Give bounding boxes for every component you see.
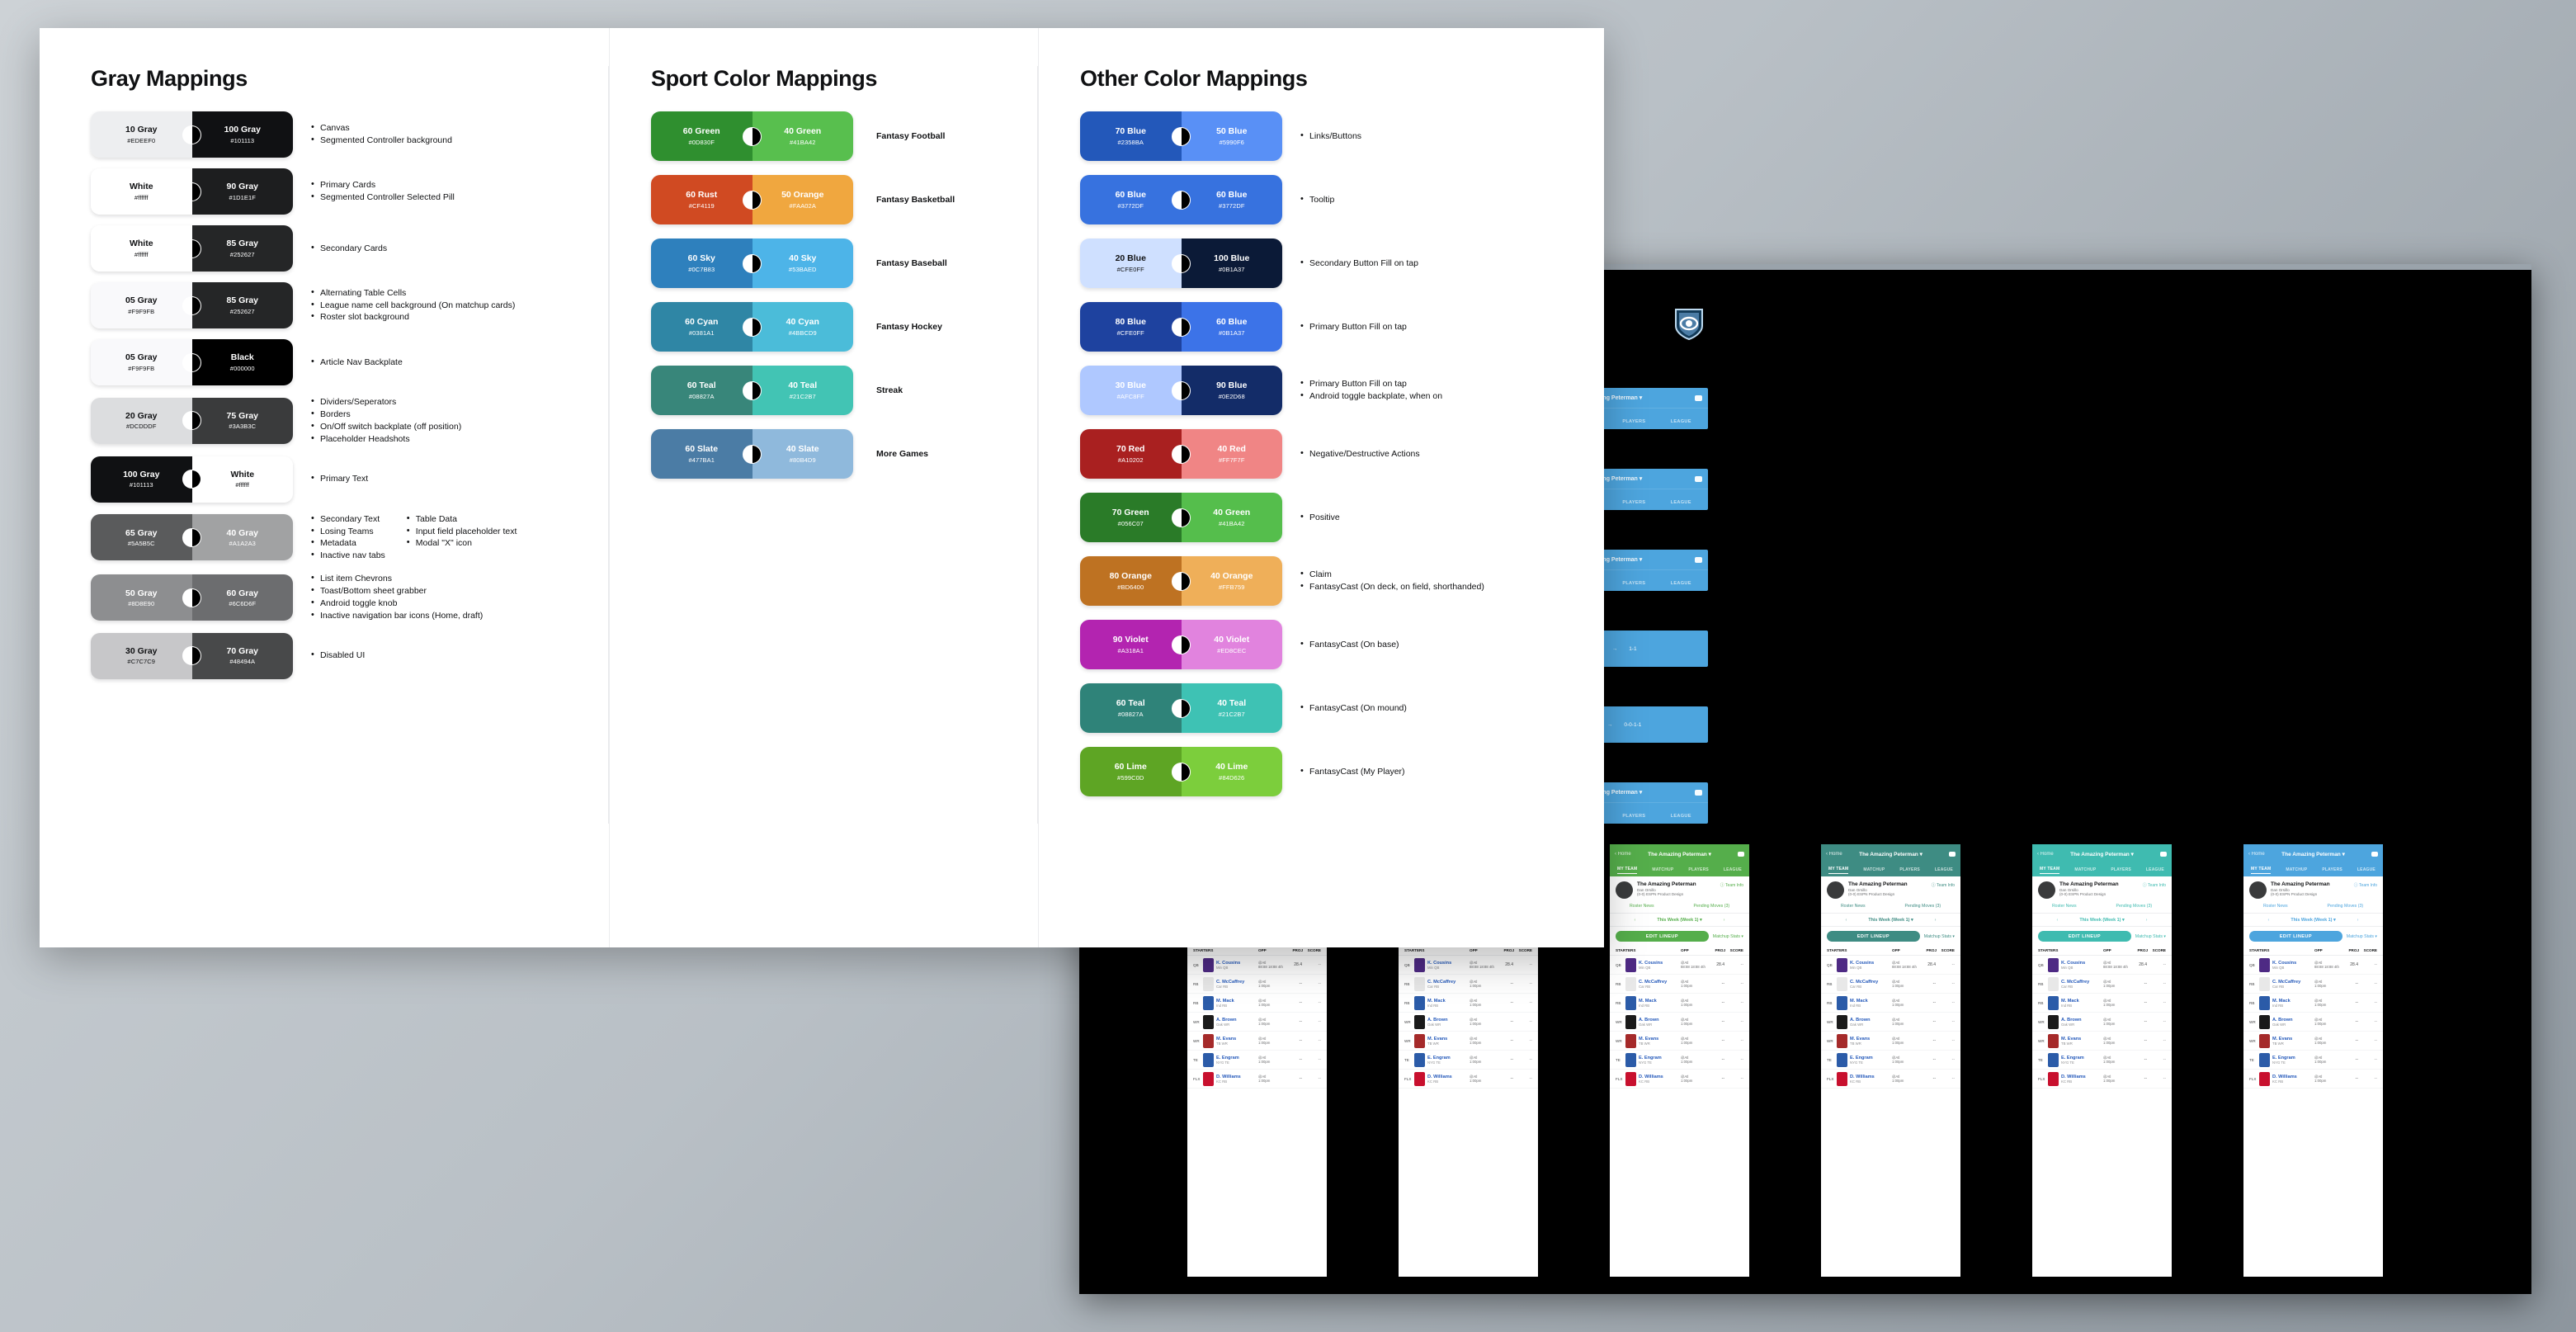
tab-my-team[interactable]: MY TEAM <box>1617 867 1637 874</box>
team-name: The Amazing Peterman <box>2271 881 2330 887</box>
chevron-right-icon[interactable]: › <box>2146 918 2148 923</box>
swatch-name: 40 Sky <box>789 253 816 263</box>
tab-players[interactable]: PLAYERS <box>2111 867 2131 872</box>
quick-link[interactable]: Roster News <box>1630 904 1654 909</box>
knob-right-half <box>192 354 201 371</box>
team-record: (0-0) ESPN Product Design <box>1637 892 1696 896</box>
swatch-hex: #5A5B5C <box>128 540 155 547</box>
quick-link[interactable]: Roster News <box>2263 904 2288 909</box>
chevron-right-icon[interactable]: › <box>1935 918 1937 923</box>
player-identity: K. CousinsMin QB <box>1850 961 1890 970</box>
position-label: WR <box>2249 1039 2257 1043</box>
player-identity: A. BrownOak WR <box>2272 1018 2312 1027</box>
table-row[interactable]: WRM. EvansTB WR@Atl1:00pm---- <box>2243 1032 2383 1051</box>
player-identity: C. McCaffreyCar RB <box>1639 980 1678 989</box>
knob-right-half <box>1182 573 1191 590</box>
opponent-cell: @Atl1:00pm <box>1892 980 1917 988</box>
player-team-pos: Car RB <box>1216 985 1256 989</box>
tab-league[interactable]: LEAGUE <box>1671 500 1691 507</box>
swatch-hex: #F9F9FB <box>128 365 154 372</box>
tab-players[interactable]: PLAYERS <box>1622 814 1645 820</box>
swatch-hex: #3772DF <box>1219 202 1245 210</box>
opponent-cell: @Atl88:88 18:88 4th <box>1470 961 1494 969</box>
contrast-knob-icon <box>1172 445 1191 464</box>
avatar <box>1616 881 1633 899</box>
tab-league[interactable]: LEAGUE <box>1724 867 1742 872</box>
note-list: Positive <box>1300 512 1340 524</box>
opponent-cell: @Atl1:00pm <box>1258 1075 1283 1083</box>
swatch-hex: #48494A <box>229 658 255 665</box>
table-row[interactable]: QBK. CousinsMin QB@Atl88:88 18:88 4th28.… <box>1610 956 1749 975</box>
knob-right-half <box>1182 636 1191 654</box>
table-row[interactable]: FLXD. WilliamsKC RB@Atl1:00pm---- <box>2243 1070 2383 1089</box>
game-time: 88:88 18:88 4th <box>2314 965 2339 969</box>
game-time: 1:00pm <box>1892 1041 1917 1045</box>
swatch-hex: #EDEEF0 <box>127 137 155 144</box>
opponent-cell: @Atl1:00pm <box>1892 1037 1917 1045</box>
knob-left-half <box>743 191 753 209</box>
note-list: Dividers/SeperatorsBordersOn/Off switch … <box>311 396 461 446</box>
tab-matchup[interactable]: MATCHUP <box>2286 867 2307 872</box>
table-row[interactable]: WRM. EvansTB WR@Atl1:00pm---- <box>1821 1032 1960 1051</box>
quick-link[interactable]: Roster News <box>2052 904 2077 909</box>
swatch-hex: #ED8CEC <box>1217 647 1246 654</box>
player-team-pos: NYG TE <box>1216 1060 1256 1065</box>
table-row[interactable]: FLXD. WilliamsKC RB@Atl1:00pm---- <box>2032 1070 2172 1089</box>
opponent-cell: @Atl1:00pm <box>2314 1037 2339 1045</box>
swatch-name: 75 Gray <box>226 411 258 421</box>
color-swatch-pair: 100 Gray#101113White#ffffff <box>91 456 293 503</box>
tab-matchup[interactable]: MATCHUP <box>1652 867 1673 872</box>
column-header: PROJ <box>2131 948 2148 952</box>
table-row[interactable]: RBM. MackInd RB@Atl1:00pm---- <box>2032 994 2172 1013</box>
swatch-name: 20 Blue <box>1116 253 1146 263</box>
player-identity: A. BrownOak WR <box>2061 1018 2101 1027</box>
team-info-link[interactable]: ⓘ Team Info <box>1932 882 1955 888</box>
table-row[interactable]: QBK. CousinsMin QB@Atl88:88 18:88 4th28.… <box>1399 956 1538 975</box>
score-value: -- <box>1516 1000 1532 1005</box>
chat-icon[interactable] <box>2160 852 2167 857</box>
table-row[interactable]: RBM. MackInd RB@Atl1:00pm---- <box>1399 994 1538 1013</box>
phone-nav-bar: ‹ HomeThe Amazing Peterman ▾ <box>2032 844 2172 863</box>
swatch-half-right: 40 Slate#80B4D9 <box>753 429 854 479</box>
matchup-stats-link[interactable]: Matchup Stats ▾ <box>2135 934 2166 939</box>
score-value: -- <box>1727 1038 1743 1043</box>
table-row[interactable]: RBC. McCaffreyCar RB@Atl1:00pm---- <box>1187 975 1327 994</box>
chevron-right-icon[interactable]: › <box>1724 918 1725 923</box>
usage-label: Fantasy Basketball <box>853 195 955 205</box>
table-row[interactable]: WRA. BrownOak WR@Atl1:00pm---- <box>2243 1013 2383 1032</box>
game-time: 1:00pm <box>1892 1079 1917 1083</box>
more-games-logo <box>1644 286 1734 360</box>
tab-league[interactable]: LEAGUE <box>1671 419 1691 426</box>
player-headshot <box>1414 996 1425 1010</box>
note-item: Modal "X" icon <box>407 537 517 550</box>
table-row[interactable]: WRA. BrownOak WR@Atl1:00pm---- <box>2032 1013 2172 1032</box>
note-item: On/Off switch backplate (off position) <box>311 421 461 433</box>
table-row[interactable]: QBK. CousinsMin QB@Atl88:88 18:88 4th28.… <box>1821 956 1960 975</box>
position-label: RB <box>1193 1001 1201 1005</box>
tab-matchup[interactable]: MATCHUP <box>1863 867 1885 872</box>
note-item: Secondary Cards <box>311 243 387 255</box>
projection-value: -- <box>1919 1019 1936 1024</box>
tab-players[interactable]: PLAYERS <box>1622 581 1645 588</box>
chevron-left-icon[interactable]: ‹ <box>1846 918 1847 923</box>
phone-tab-bar: MY TEAMMATCHUPPLAYERSLEAGUE <box>2032 863 2172 876</box>
swatch-half-right: 100 Blue#0B1A37 <box>1182 239 1283 288</box>
swatch-hex: #8D8E90 <box>128 600 154 607</box>
edit-lineup-button[interactable]: EDIT LINEUP <box>2038 931 2131 942</box>
table-row[interactable]: TEE. EngramNYG TE@Atl1:00pm---- <box>1399 1051 1538 1070</box>
table-row[interactable]: WRM. EvansTB WR@Atl1:00pm---- <box>2032 1032 2172 1051</box>
quick-link[interactable]: Pending Moves (3) <box>2116 904 2153 909</box>
position-label: WR <box>2038 1020 2045 1024</box>
score-value: -- <box>1938 1038 1955 1043</box>
tab-players[interactable]: PLAYERS <box>2322 867 2342 872</box>
projection-value: -- <box>1497 1019 1513 1024</box>
table-row[interactable]: WRA. BrownOak WR@Atl1:00pm---- <box>1610 1013 1749 1032</box>
score-value: -- <box>1305 981 1321 986</box>
usage-notes: Positive <box>1282 512 1340 524</box>
swatch-half-right: 85 Gray#252627 <box>192 282 294 328</box>
swatch-row: 60 Green#0D830F40 Green#41BA42Fantasy Fo… <box>651 111 1038 161</box>
edit-lineup-bar: EDIT LINEUPMatchup Stats ▾ <box>2032 927 2172 946</box>
swatch-half-right: Black#000000 <box>192 339 294 385</box>
table-row[interactable]: WRM. EvansTB WR@Atl1:00pm---- <box>1399 1032 1538 1051</box>
note-item: Secondary Text <box>311 513 385 526</box>
swatch-half-left: 60 Green#0D830F <box>651 111 753 161</box>
note-list: Table DataInput field placeholder textMo… <box>407 513 517 563</box>
knob-left-half <box>743 128 753 145</box>
week-selector: ‹This Week (Week 1) ▾› <box>2243 913 2383 927</box>
game-time: 1:00pm <box>2103 1022 2128 1026</box>
table-row[interactable]: RBC. McCaffreyCar RB@Atl1:00pm---- <box>2243 975 2383 994</box>
table-row[interactable]: TEE. EngramNYG TE@Atl1:00pm---- <box>1821 1051 1960 1070</box>
projection-value: 28.4 <box>1708 962 1724 967</box>
swatch-hex: #2358BA <box>1117 139 1144 146</box>
phone-tab-bar: MY TEAMMATCHUPPLAYERSLEAGUE <box>1610 863 1749 876</box>
swatch-hex: #C7C7C9 <box>127 658 155 665</box>
knob-right-half <box>1182 763 1191 781</box>
swatch-hex: #0B1A37 <box>1219 329 1245 337</box>
projection-value: 28.4 <box>1919 962 1936 967</box>
color-swatch-pair: 20 Blue#CFE0FF100 Blue#0B1A37 <box>1080 239 1282 288</box>
score-value: -- <box>1516 962 1532 967</box>
player-headshot <box>1203 977 1214 991</box>
matchup-stats-link[interactable]: Matchup Stats ▾ <box>1924 934 1955 939</box>
opponent-cell: @Atl1:00pm <box>1258 999 1283 1007</box>
swatch-half-left: 65 Gray#5A5B5C <box>91 514 192 560</box>
player-identity: A. BrownOak WR <box>1427 1018 1467 1027</box>
swatch-hex: #1D1E1F <box>229 194 256 201</box>
note-item: List item Chevrons <box>311 573 483 585</box>
projection-value: -- <box>1919 1038 1936 1043</box>
chevron-left-icon[interactable]: ‹ <box>2057 918 2059 923</box>
swatch-half-right: 40 Gray#A1A2A3 <box>192 514 294 560</box>
player-identity: E. EngramNYG TE <box>2272 1056 2312 1065</box>
projection-value: 28.4 <box>1497 962 1513 967</box>
table-row[interactable]: FLXD. WilliamsKC RB@Atl1:00pm---- <box>1187 1070 1327 1089</box>
note-item: Table Data <box>407 513 517 526</box>
swatch-half-left: 10 Gray#EDEEF0 <box>91 111 192 158</box>
game-time: 1:00pm <box>1258 1003 1283 1007</box>
note-item: Alternating Table Cells <box>311 287 515 300</box>
player-team-pos: TB WR <box>1639 1042 1678 1046</box>
column-other-mappings: Other Color Mappings70 Blue#2358BA50 Blu… <box>1038 28 1604 947</box>
swatch-hex: #056C07 <box>1118 520 1144 527</box>
chevron-right-icon[interactable]: › <box>2357 918 2359 923</box>
tab-league[interactable]: LEAGUE <box>1671 581 1691 588</box>
game-time: 1:00pm <box>1892 1022 1917 1026</box>
table-row[interactable]: WRM. EvansTB WR@Atl1:00pm---- <box>1187 1032 1327 1051</box>
quick-links: Roster NewsPending Moves (3) <box>2243 902 2383 913</box>
usage-notes: Secondary TextLosing TeamsMetadataInacti… <box>293 513 517 563</box>
table-row[interactable]: QBK. CousinsMin QB@Atl88:88 18:88 4th28.… <box>1187 956 1327 975</box>
projection-value: -- <box>2130 1000 2147 1005</box>
tab-league[interactable]: LEAGUE <box>2146 867 2164 872</box>
swatch-row: 05 Gray#F9F9FBBlack#000000Article Nav Ba… <box>91 339 609 385</box>
player-headshot <box>1203 1053 1214 1067</box>
swatch-half-left: 60 Teal#08827A <box>1080 683 1182 733</box>
score-value: -- <box>2361 1019 2377 1024</box>
knob-right-half <box>1182 700 1191 717</box>
week-label[interactable]: This Week (Week 1) ▾ <box>2079 918 2124 923</box>
swatch-hex: #4BBCD9 <box>789 329 817 337</box>
tab-league[interactable]: LEAGUE <box>2357 867 2375 872</box>
knob-right-half <box>192 412 201 429</box>
position-label: WR <box>1404 1020 1412 1024</box>
table-row[interactable]: QBK. CousinsMin QB@Atl88:88 18:88 4th28.… <box>2243 956 2383 975</box>
column-title: Gray Mappings <box>91 66 609 92</box>
swatch-name: 60 Teal <box>1116 698 1145 708</box>
chevron-left-icon[interactable]: ‹ <box>1635 918 1636 923</box>
player-team-pos: Oak WR <box>2061 1023 2101 1027</box>
score-value: -- <box>2361 981 2377 986</box>
position-label: QB <box>2249 963 2257 967</box>
swatch-name: 90 Blue <box>1216 380 1247 390</box>
chat-icon[interactable] <box>1949 852 1956 857</box>
tab-league[interactable]: LEAGUE <box>1935 867 1953 872</box>
player-team-pos: TB WR <box>1850 1042 1890 1046</box>
table-row[interactable]: FLXD. WilliamsKC RB@Atl1:00pm---- <box>1610 1070 1749 1089</box>
swatch-half-right: 60 Blue#0B1A37 <box>1182 302 1283 352</box>
swatch-half-left: 20 Blue#CFE0FF <box>1080 239 1182 288</box>
table-row[interactable]: WRM. EvansTB WR@Atl1:00pm---- <box>1610 1032 1749 1051</box>
player-team-pos: Car RB <box>2272 985 2312 989</box>
usage-notes: Article Nav Backplate <box>293 357 403 369</box>
table-row[interactable]: RBC. McCaffreyCar RB@Atl1:00pm---- <box>1399 975 1538 994</box>
table-row[interactable]: RBM. MackInd RB@Atl1:00pm---- <box>1610 994 1749 1013</box>
swatch-row: 80 Orange#BD640040 Orange#FFB759ClaimFan… <box>1080 556 1604 606</box>
score-value: -- <box>1516 981 1532 986</box>
color-swatch-pair: 60 Cyan#0381A140 Cyan#4BBCD9 <box>651 302 853 352</box>
tab-matchup[interactable]: MATCHUP <box>2074 867 2096 872</box>
tab-players[interactable]: PLAYERS <box>1899 867 1920 872</box>
table-row[interactable]: RBC. McCaffreyCar RB@Atl1:00pm---- <box>1821 975 1960 994</box>
player-headshot <box>1414 1034 1425 1048</box>
note-list: Primary Text <box>311 473 368 485</box>
column-header: SCORE <box>2359 948 2377 952</box>
note-item: Borders <box>311 409 461 421</box>
player-identity: E. EngramNYG TE <box>1216 1056 1256 1065</box>
table-row[interactable]: RBM. MackInd RB@Atl1:00pm---- <box>1187 994 1327 1013</box>
table-row[interactable]: QBK. CousinsMin QB@Atl88:88 18:88 4th28.… <box>2032 956 2172 975</box>
swatch-name: 30 Blue <box>1116 380 1146 390</box>
player-identity: D. WilliamsKC RB <box>2272 1075 2312 1084</box>
player-team-pos: Ind RB <box>1216 1004 1256 1008</box>
opponent-cell: @Atl1:00pm <box>1681 1056 1706 1064</box>
tab-players[interactable]: PLAYERS <box>1688 867 1709 872</box>
column-header: SCORE <box>2148 948 2166 952</box>
table-row[interactable]: WRA. BrownOak WR@Atl1:00pm---- <box>1821 1013 1960 1032</box>
note-item: Segmented Controller background <box>311 135 452 147</box>
roster-table-header: STARTERSOPPPROJSCORE <box>1610 946 1749 956</box>
edit-lineup-button[interactable]: EDIT LINEUP <box>2249 931 2342 942</box>
swatch-hex: #0E2D68 <box>1219 393 1245 400</box>
table-row[interactable]: RBM. MackInd RB@Atl1:00pm---- <box>1821 994 1960 1013</box>
knob-left-half <box>183 647 192 664</box>
matchup-stats-link[interactable]: Matchup Stats ▾ <box>1713 934 1743 939</box>
table-row[interactable]: WRA. BrownOak WR@Atl1:00pm---- <box>1399 1013 1538 1032</box>
tab-players[interactable]: PLAYERS <box>1622 419 1645 426</box>
opponent-cell: @Atl1:00pm <box>1681 980 1706 988</box>
note-list: Primary Button Fill on tap <box>1300 321 1407 333</box>
player-team-pos: KC RB <box>2061 1079 2101 1084</box>
game-time: 88:88 18:88 4th <box>1681 965 1706 969</box>
usage-notes: Primary CardsSegmented Controller Select… <box>293 179 455 204</box>
contrast-knob-icon <box>1172 572 1191 591</box>
player-headshot <box>1837 1015 1847 1029</box>
tab-players[interactable]: PLAYERS <box>1622 500 1645 507</box>
team-info-link[interactable]: ⓘ Team Info <box>2143 882 2166 888</box>
edit-lineup-button[interactable]: EDIT LINEUP <box>1827 931 1920 942</box>
score-value: -- <box>1727 1000 1743 1005</box>
position-label: FLX <box>1193 1077 1201 1081</box>
color-swatch-pair: 70 Blue#2358BA50 Blue#5990F6 <box>1080 111 1282 161</box>
swatch-name: 50 Gray <box>125 588 158 598</box>
table-row[interactable]: TEE. EngramNYG TE@Atl1:00pm---- <box>1187 1051 1327 1070</box>
knob-left-half <box>183 240 192 257</box>
position-label: QB <box>2038 963 2045 967</box>
game-time: 1:00pm <box>2314 1022 2339 1026</box>
table-row[interactable]: RBC. McCaffreyCar RB@Atl1:00pm---- <box>1610 975 1749 994</box>
knob-right-half <box>1182 446 1191 463</box>
chevron-left-icon[interactable]: ‹ <box>2268 918 2270 923</box>
column-header: SCORE <box>1514 948 1532 952</box>
swatch-name: 60 Teal <box>687 380 716 390</box>
color-swatch-pair: 60 Lime#599C0D40 Lime#84D626 <box>1080 747 1282 796</box>
table-row[interactable]: RBM. MackInd RB@Atl1:00pm---- <box>2243 994 2383 1013</box>
quick-link[interactable]: Pending Moves (3) <box>2328 904 2364 909</box>
game-time: 1:00pm <box>1892 1060 1917 1064</box>
projection-value: -- <box>1497 1038 1513 1043</box>
table-row[interactable]: WRA. BrownOak WR@Atl1:00pm---- <box>1187 1013 1327 1032</box>
swatch-hex: #0C7B83 <box>688 266 715 273</box>
week-label[interactable]: This Week (Week 1) ▾ <box>1657 918 1701 923</box>
swatch-half-right: 40 Lime#84D626 <box>1182 747 1283 796</box>
swatch-half-left: 70 Blue#2358BA <box>1080 111 1182 161</box>
game-time: 1:00pm <box>2314 1079 2339 1083</box>
table-row[interactable]: TEE. EngramNYG TE@Atl1:00pm---- <box>2243 1051 2383 1070</box>
chat-icon[interactable] <box>2371 852 2378 857</box>
week-label[interactable]: This Week (Week 1) ▾ <box>2291 918 2335 923</box>
table-row[interactable]: TEE. EngramNYG TE@Atl1:00pm---- <box>2032 1051 2172 1070</box>
note-item: Roster slot background <box>311 311 515 324</box>
note-item: Input field placeholder text <box>407 526 517 538</box>
score-value: -- <box>1938 1057 1955 1062</box>
quick-link[interactable]: Pending Moves (3) <box>1905 904 1941 909</box>
game-time: 1:00pm <box>1470 1060 1494 1064</box>
color-swatch-pair: 20 Gray#DCDDDF75 Gray#3A3B3C <box>91 398 293 444</box>
player-team-pos: KC RB <box>2272 1079 2312 1084</box>
usage-notes: FantasyCast (On mound) <box>1282 702 1407 715</box>
projection-value: -- <box>1708 1019 1724 1024</box>
table-row[interactable]: FLXD. WilliamsKC RB@Atl1:00pm---- <box>1821 1070 1960 1089</box>
color-swatch-pair: 70 Green#056C0740 Green#41BA42 <box>1080 493 1282 542</box>
knob-left-half <box>743 255 753 272</box>
table-row[interactable]: TEE. EngramNYG TE@Atl1:00pm---- <box>1610 1051 1749 1070</box>
knob-right-half <box>192 470 201 488</box>
usage-notes: Primary Text <box>293 473 368 485</box>
projection-value: -- <box>2342 981 2358 986</box>
swatch-row: 90 Violet#A318A140 Violet#ED8CECFantasyC… <box>1080 620 1604 669</box>
tab-my-team[interactable]: MY TEAM <box>2251 867 2271 874</box>
roster-table-header: STARTERSOPPPROJSCORE <box>2243 946 2383 956</box>
swatch-row: 80 Blue#CFE0FF60 Blue#0B1A37Primary Butt… <box>1080 302 1604 352</box>
swatch-row: 30 Blue#AFC8FF90 Blue#0E2D68Primary Butt… <box>1080 366 1604 415</box>
opponent-cell: @Atl1:00pm <box>1258 1037 1283 1045</box>
tab-my-team[interactable]: MY TEAM <box>1828 867 1848 874</box>
color-swatch-pair: 65 Gray#5A5B5C40 Gray#A1A2A3 <box>91 514 293 560</box>
player-identity: A. BrownOak WR <box>1850 1018 1890 1027</box>
swatch-hex: #3772DF <box>1117 202 1144 210</box>
note-item: Primary Cards <box>311 179 455 191</box>
team-info-link[interactable]: ⓘ Team Info <box>2354 882 2377 888</box>
team-info-link[interactable]: ⓘ Team Info <box>1720 882 1743 888</box>
week-label[interactable]: This Week (Week 1) ▾ <box>1868 918 1913 923</box>
table-row[interactable]: FLXD. WilliamsKC RB@Atl1:00pm---- <box>1399 1070 1538 1089</box>
quick-link[interactable]: Pending Moves (3) <box>1694 904 1730 909</box>
tab-my-team[interactable]: MY TEAM <box>2040 867 2059 874</box>
player-team-pos: KC RB <box>1850 1079 1890 1084</box>
knob-right-half <box>753 319 762 336</box>
contrast-knob-icon <box>1172 763 1191 782</box>
chat-icon[interactable] <box>1738 852 1744 857</box>
quick-link[interactable]: Roster News <box>1841 904 1866 909</box>
position-label: TE <box>2038 1058 2045 1062</box>
swatch-row: 60 Lime#599C0D40 Lime#84D626FantasyCast … <box>1080 747 1604 796</box>
player-headshot <box>2048 996 2059 1010</box>
swatch-half-left: 60 Slate#477BA1 <box>651 429 753 479</box>
knob-left-half <box>1172 255 1182 272</box>
player-identity: M. EvansTB WR <box>1850 1037 1890 1046</box>
swatch-row: 10 Gray#EDEEF0100 Gray#101113CanvasSegme… <box>91 111 609 158</box>
contrast-knob-icon <box>182 353 201 372</box>
edit-lineup-button[interactable]: EDIT LINEUP <box>1616 931 1709 942</box>
swatch-half-left: 05 Gray#F9F9FB <box>91 339 192 385</box>
swatch-name: 70 Red <box>1116 444 1144 454</box>
player-team-pos: NYG TE <box>2272 1060 2312 1065</box>
player-headshot <box>1625 977 1636 991</box>
matchup-stats-link[interactable]: Matchup Stats ▾ <box>2347 934 2377 939</box>
table-row[interactable]: RBC. McCaffreyCar RB@Atl1:00pm---- <box>2032 975 2172 994</box>
note-item: Primary Text <box>311 473 368 485</box>
contrast-knob-icon <box>1172 508 1191 527</box>
tab-league[interactable]: LEAGUE <box>1671 814 1691 820</box>
projection-value: 28.4 <box>1286 962 1302 967</box>
game-time: 1:00pm <box>1681 1079 1706 1083</box>
note-list: List item ChevronsToast/Bottom sheet gra… <box>311 573 483 622</box>
